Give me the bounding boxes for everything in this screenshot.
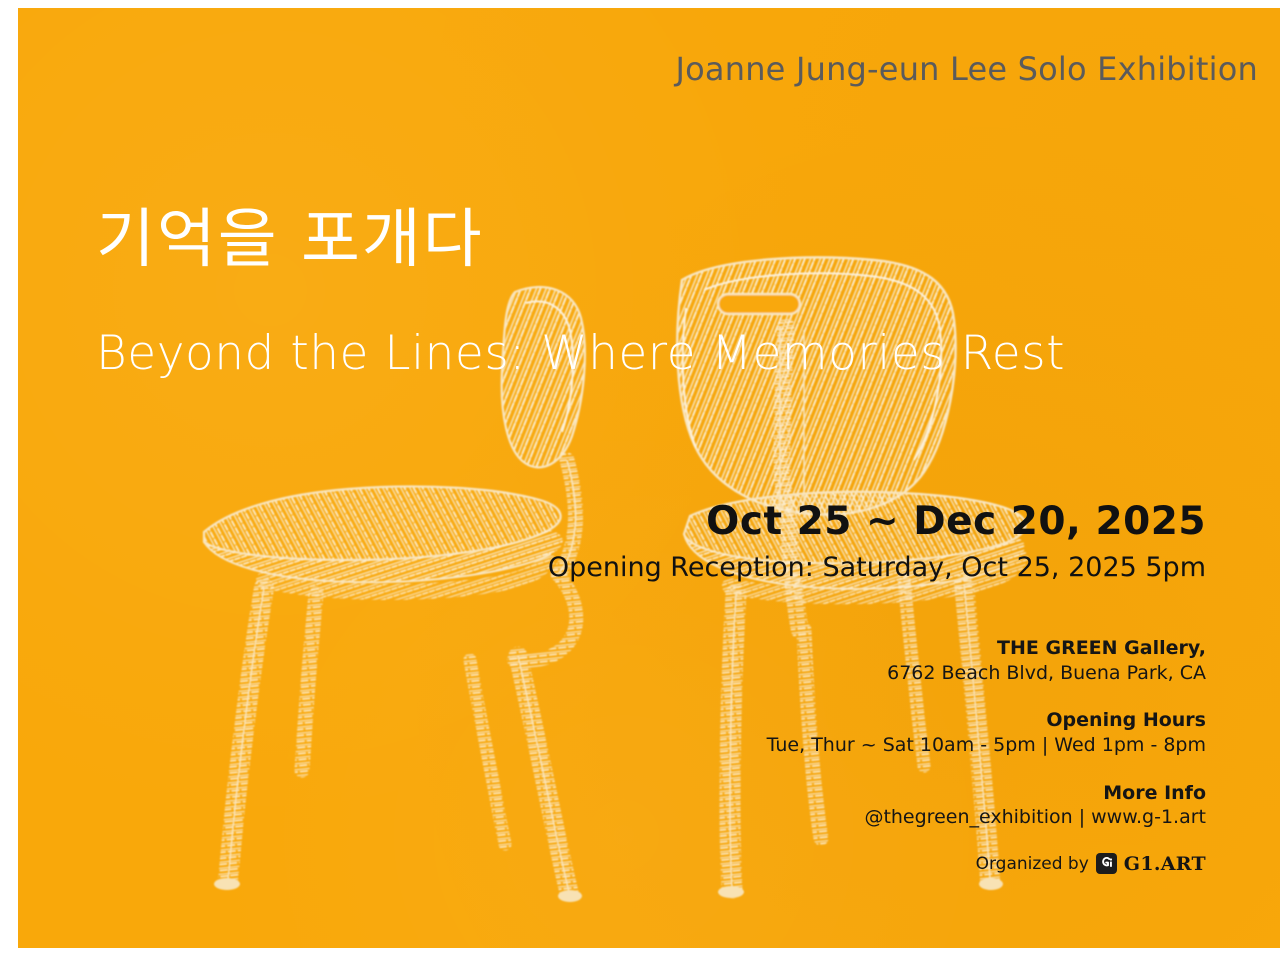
organized-by-label: Organized by [976, 854, 1089, 874]
gallery-info-group: THE GREEN Gallery, 6762 Beach Blvd, Buen… [686, 636, 1206, 686]
hours-info-group: Opening Hours Tue, Thur ~ Sat 10am - 5pm… [686, 708, 1206, 758]
gallery-address: 6762 Beach Blvd, Buena Park, CA [686, 661, 1206, 687]
title-korean: 기억을 포개다 [96, 208, 484, 272]
exhibition-poster: Joanne Jung-eun Lee Solo Exhibition 기억을 … [18, 8, 1280, 948]
more-info-heading: More Info [686, 781, 1206, 806]
title-english: Beyond the Lines: Where Memories Rest [96, 330, 1065, 377]
g1-logo-text: G1.ART [1124, 853, 1206, 875]
date-range: Oct 25 ~ Dec 20, 2025 [548, 500, 1206, 545]
opening-hours-value: Tue, Thur ~ Sat 10am - 5pm | Wed 1pm - 8… [686, 733, 1206, 759]
opening-hours-heading: Opening Hours [686, 708, 1206, 733]
g1-logo-icon [1096, 853, 1117, 874]
more-info-contact[interactable]: @thegreen_exhibition | www.g-1.art [686, 805, 1206, 831]
venue-info-block: THE GREEN Gallery, 6762 Beach Blvd, Buen… [686, 636, 1206, 875]
exhibition-header: Joanne Jung-eun Lee Solo Exhibition [676, 50, 1259, 88]
opening-reception: Opening Reception: Saturday, Oct 25, 202… [548, 552, 1206, 583]
gallery-name: THE GREEN Gallery, [686, 636, 1206, 661]
organizer-row: Organized by G1.ART [686, 853, 1206, 875]
more-info-group: More Info @thegreen_exhibition | www.g-1… [686, 781, 1206, 831]
date-block: Oct 25 ~ Dec 20, 2025 Opening Reception:… [548, 500, 1206, 583]
